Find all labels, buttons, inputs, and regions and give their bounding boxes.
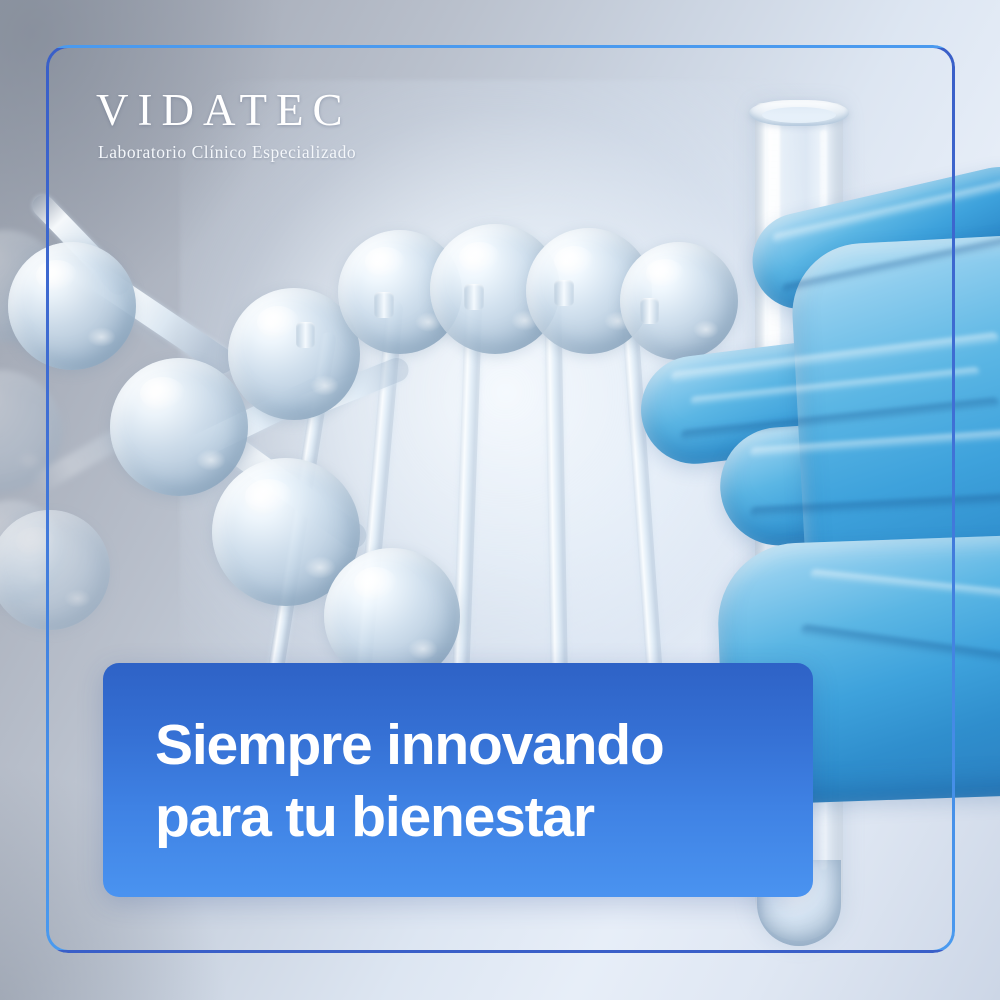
dna-joint bbox=[464, 284, 484, 310]
brand-logo: VIDATEC Laboratorio Clínico Especializad… bbox=[96, 88, 356, 163]
gloved-hand bbox=[600, 120, 1000, 680]
brand-tagline: Laboratorio Clínico Especializado bbox=[98, 142, 356, 163]
dna-joint bbox=[554, 280, 574, 306]
dna-joint bbox=[374, 292, 394, 318]
dna-sphere bbox=[8, 242, 136, 370]
dna-helix-model bbox=[0, 180, 660, 740]
dna-sphere bbox=[0, 510, 110, 630]
promotional-graphic: VIDATEC Laboratorio Clínico Especializad… bbox=[0, 0, 1000, 1000]
headline-banner: Siempre innovando para tu bienestar bbox=[103, 663, 813, 897]
brand-name: VIDATEC bbox=[96, 88, 356, 133]
headline-text: Siempre innovando para tu bienestar bbox=[155, 709, 795, 853]
dna-joint bbox=[296, 322, 315, 348]
dna-sphere bbox=[110, 358, 248, 496]
